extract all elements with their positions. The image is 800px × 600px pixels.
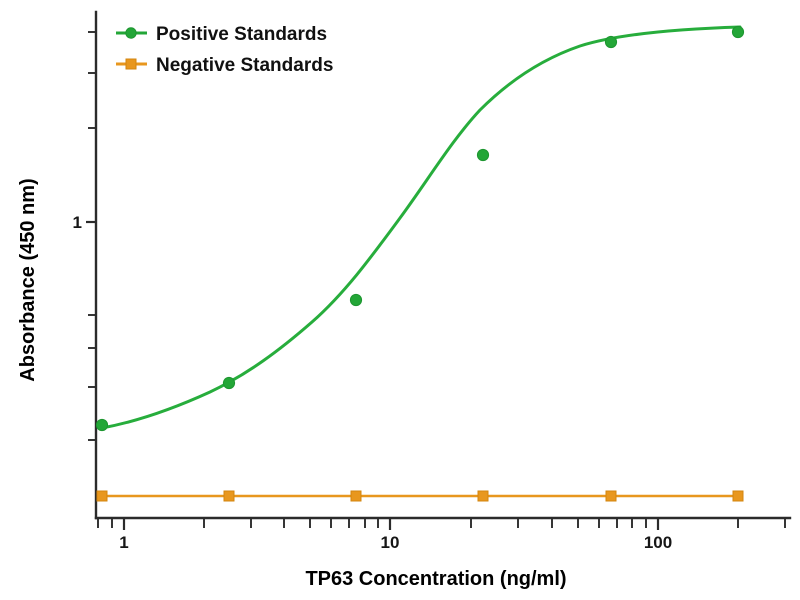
data-point-marker (606, 491, 616, 501)
data-point-marker (350, 294, 361, 305)
x-tick-label-1: 1 (119, 533, 128, 552)
y-axis-title: Absorbance (450 nm) (17, 178, 39, 381)
data-point-marker (96, 419, 107, 430)
data-point-marker (223, 377, 234, 388)
x-axis-ticks (98, 518, 785, 530)
legend-marker-positive (126, 28, 136, 38)
data-point-marker (351, 491, 361, 501)
standard-curve-plot: 1 1 10 100 (0, 0, 800, 600)
data-point-marker (477, 149, 488, 160)
y-tick-label-1: 1 (73, 213, 82, 232)
data-point-marker (733, 491, 743, 501)
data-point-marker (732, 26, 743, 37)
chart-figure: 1 1 10 100 (0, 0, 800, 600)
legend-marker-negative (126, 59, 136, 69)
chart-legend: Positive Standards Negative Standards (116, 24, 333, 76)
data-point-marker (478, 491, 488, 501)
legend-label-positive: Positive Standards (156, 24, 327, 45)
series-negative-standards (97, 491, 743, 501)
x-tick-label-10: 10 (381, 533, 400, 552)
data-point-marker (97, 491, 107, 501)
data-point-marker (224, 491, 234, 501)
legend-item-negative-standards[interactable]: Negative Standards (116, 55, 333, 76)
legend-label-negative: Negative Standards (156, 55, 333, 76)
legend-item-positive-standards[interactable]: Positive Standards (116, 24, 327, 45)
y-axis-ticks (86, 32, 96, 440)
positive-standards-curve (102, 27, 740, 428)
series-positive-standards (96, 26, 743, 430)
data-point-marker (605, 36, 616, 47)
x-tick-label-100: 100 (644, 533, 672, 552)
x-axis-title: TP63 Concentration (ng/ml) (305, 568, 566, 590)
